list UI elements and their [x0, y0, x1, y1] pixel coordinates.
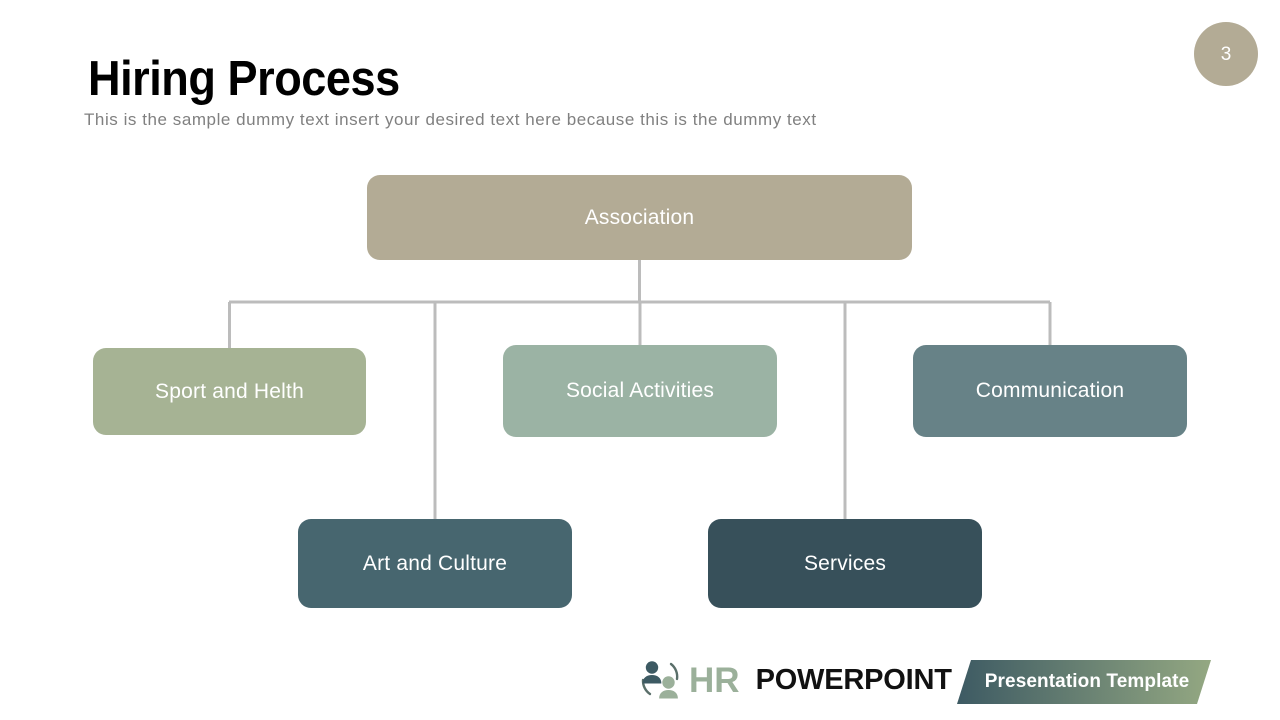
org-node-communication[interactable]: Communication — [913, 345, 1187, 437]
node-label: Services — [804, 552, 886, 576]
hr-people-icon — [637, 658, 683, 702]
org-node-services[interactable]: Services — [708, 519, 982, 608]
logo-hr-text: HR — [689, 663, 740, 698]
node-label: Art and Culture — [363, 552, 507, 576]
banner-label: Presentation Template — [957, 660, 1211, 704]
org-node-sport-and-helth[interactable]: Sport and Helth — [93, 348, 366, 435]
org-node-root[interactable]: Association — [367, 175, 912, 260]
org-chart: AssociationSport and HelthSocial Activit… — [0, 0, 1280, 720]
node-label: Sport and Helth — [155, 380, 304, 404]
org-node-art-and-culture[interactable]: Art and Culture — [298, 519, 572, 608]
node-label: Association — [585, 206, 695, 230]
node-label: Social Activities — [566, 379, 714, 403]
org-node-social-activities[interactable]: Social Activities — [503, 345, 777, 437]
logo-powerpoint-text: POWERPOINT — [756, 666, 952, 695]
footer-logo: HR POWERPOINT — [637, 655, 952, 705]
node-label: Communication — [976, 379, 1125, 403]
presentation-template-banner: Presentation Template — [957, 660, 1211, 704]
